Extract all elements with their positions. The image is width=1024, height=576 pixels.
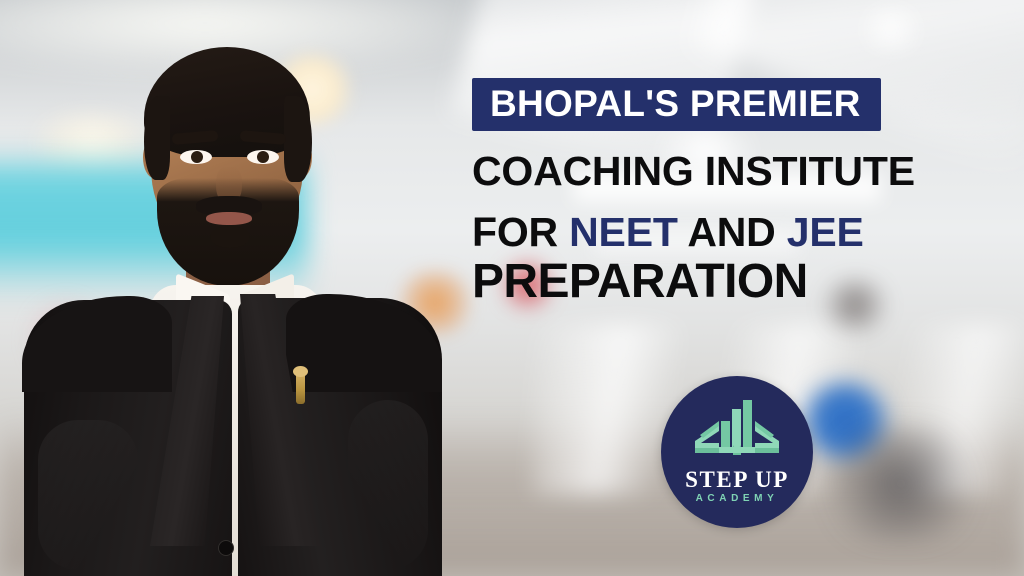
ribbon-banner: BHOPAL'S PREMIER — [472, 78, 881, 131]
subject-portrait — [0, 0, 470, 576]
headline-exam-jee: JEE — [787, 209, 864, 255]
promo-banner-canvas: BHOPAL'S PREMIER COACHING INSTITUTE FOR … — [0, 0, 1024, 576]
lapel-pin-icon — [293, 366, 308, 377]
headline-line-3-middle: AND — [678, 209, 787, 255]
chin-beard — [210, 226, 250, 248]
headline-exam-neet: NEET — [569, 209, 678, 255]
sleeve-highlight-left — [38, 420, 138, 570]
ceiling-spotlight — [850, 6, 932, 52]
blurred-person — [819, 426, 983, 541]
headline-block: BHOPAL'S PREMIER COACHING INSTITUTE FOR … — [472, 78, 1012, 307]
shoulder-left — [22, 296, 172, 392]
pupil-left — [191, 151, 203, 163]
book-and-bars-icon — [689, 395, 785, 463]
sleeve-highlight-right — [348, 400, 428, 570]
hair-side-left — [144, 96, 170, 180]
logo-subtitle: ACADEMY — [661, 494, 813, 504]
shoulder-right — [286, 294, 442, 392]
pupil-right — [257, 151, 269, 163]
headline-line-2: COACHING INSTITUTE — [472, 150, 1012, 194]
lips — [206, 212, 252, 225]
headline-line-4: PREPARATION — [472, 256, 1012, 307]
jacket-button — [218, 540, 234, 556]
step-up-academy-logo: STEP UP ACADEMY — [661, 376, 813, 528]
logo-name: STEP UP — [661, 468, 813, 491]
headline-line-3-prefix: FOR — [472, 209, 569, 255]
headline-line-1: BHOPAL'S PREMIER — [490, 85, 861, 122]
headline-line-3: FOR NEET AND JEE — [472, 211, 1012, 255]
